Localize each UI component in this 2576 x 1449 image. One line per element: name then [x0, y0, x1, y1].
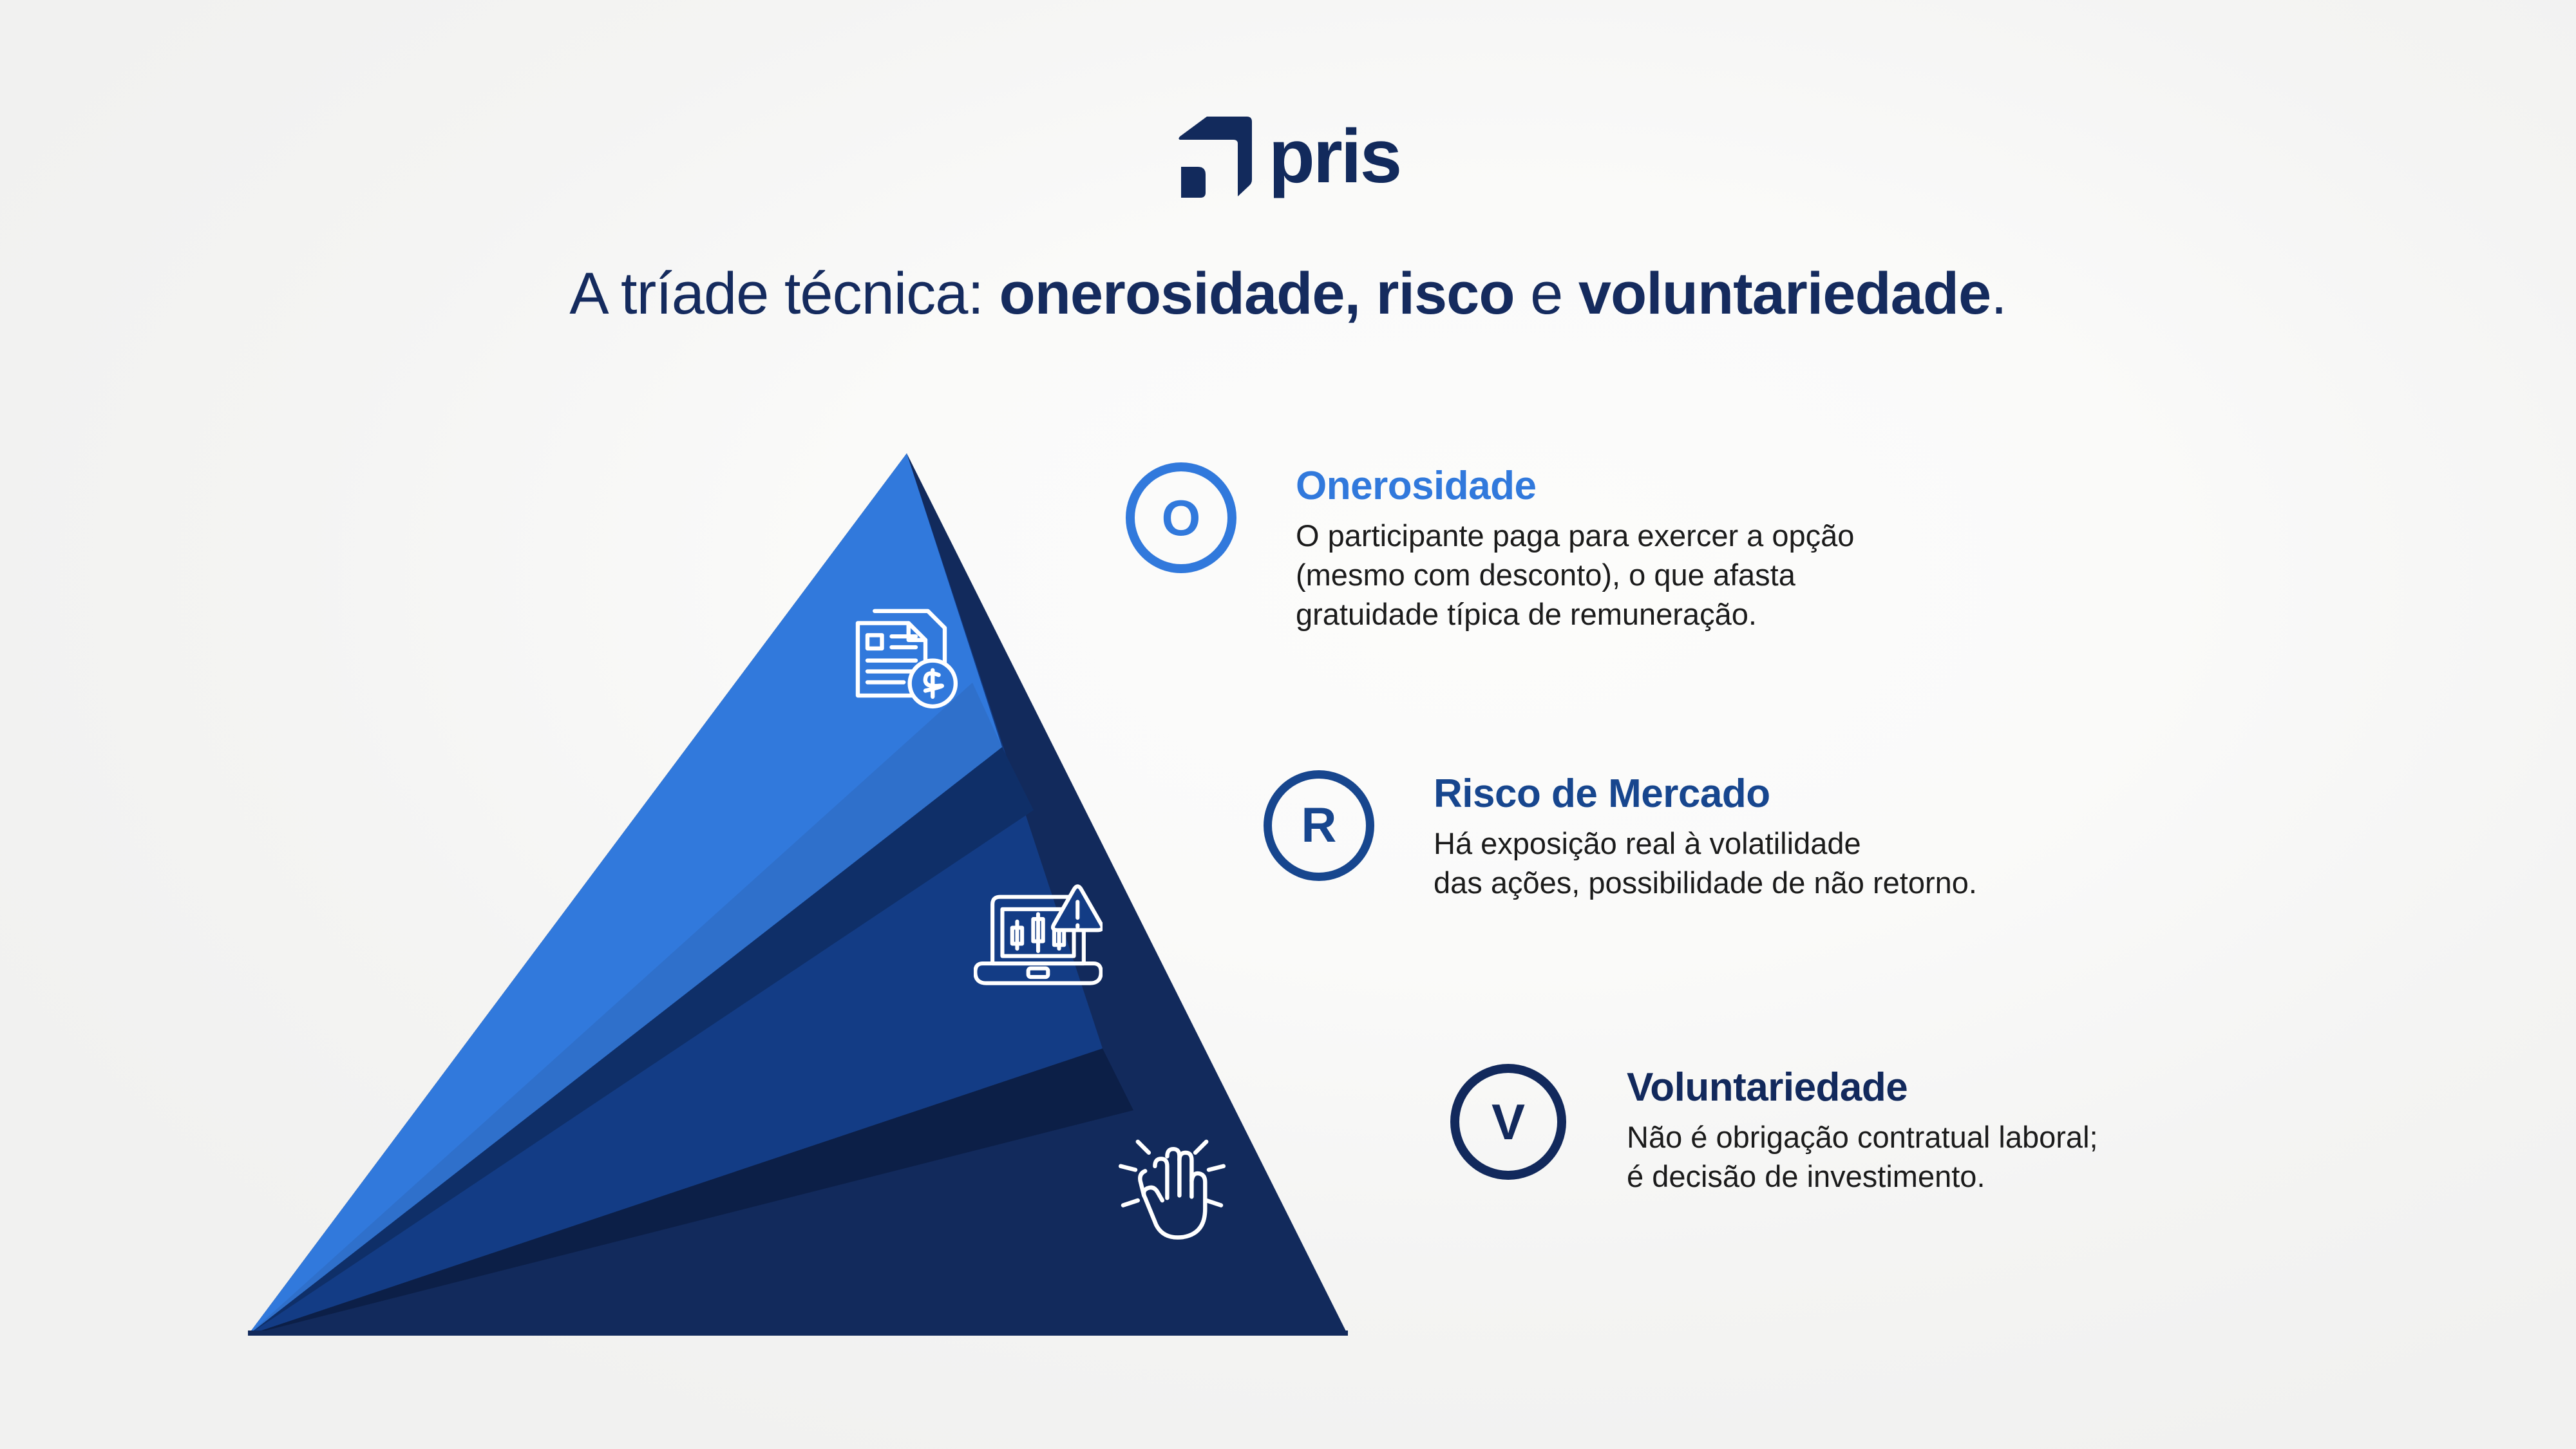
- item-onerosidade-text: Onerosidade O participante paga para exe…: [1296, 462, 1854, 634]
- pyramid-baseline: [248, 1331, 1348, 1336]
- title-bold-1: onerosidade, risco: [999, 261, 1515, 327]
- pyramid-diagram: [0, 0, 2576, 1449]
- badge-letter-v: V: [1492, 1097, 1525, 1147]
- pyramid-band-onerosidade: [248, 453, 1002, 1335]
- brand-name: pris: [1269, 118, 1400, 194]
- title-middle: e: [1515, 261, 1578, 327]
- item-voluntariedade-body: Não é obrigação contratual laboral; é de…: [1627, 1117, 2098, 1196]
- pyramid-band-onerosidade-shadow: [248, 683, 1002, 1335]
- pris-arrow-mark-icon: [1176, 115, 1252, 198]
- title-trail: .: [1991, 261, 2007, 327]
- pyramid-band-risco-shadow: [248, 747, 1034, 1335]
- item-voluntariedade-text: Voluntariedade Não é obrigação contratua…: [1627, 1064, 2098, 1196]
- badge-letter-o: O: [1162, 493, 1201, 543]
- item-risco-title: Risco de Mercado: [1434, 773, 1977, 815]
- pyramid-band-risco: [248, 453, 1103, 1335]
- item-risco-de-mercado: R Risco de Mercado Há exposição real à v…: [1264, 770, 1977, 902]
- document-dollar-icon: [845, 599, 967, 715]
- pyramid-band-voluntariedade-shadow: [248, 1048, 1133, 1335]
- title-lead: A tríade técnica:: [569, 261, 999, 327]
- item-voluntariedade: V Voluntariedade Não é obrigação contrat…: [1450, 1064, 2098, 1196]
- page-title: A tríade técnica: onerosidade, risco e v…: [0, 263, 2576, 326]
- item-risco-text: Risco de Mercado Há exposição real à vol…: [1434, 770, 1977, 902]
- raised-hand-icon: [1111, 1127, 1233, 1249]
- brand-logo: pris: [0, 108, 2576, 205]
- item-onerosidade-title: Onerosidade: [1296, 465, 1854, 507]
- item-voluntariedade-title: Voluntariedade: [1627, 1066, 2098, 1108]
- item-risco-body: Há exposição real à volatilidade das açõ…: [1434, 824, 1977, 902]
- item-onerosidade-body: O participante paga para exercer a opção…: [1296, 516, 1854, 634]
- title-bold-2: voluntariedade: [1578, 261, 1991, 327]
- badge-letter-r: R: [1302, 801, 1337, 850]
- badge-onerosidade: O: [1126, 462, 1236, 573]
- laptop-candlestick-warning-icon: [974, 877, 1103, 993]
- item-onerosidade: O Onerosidade O participante paga para e…: [1126, 462, 1854, 634]
- badge-risco: R: [1264, 770, 1374, 881]
- badge-voluntariedade: V: [1450, 1064, 1566, 1180]
